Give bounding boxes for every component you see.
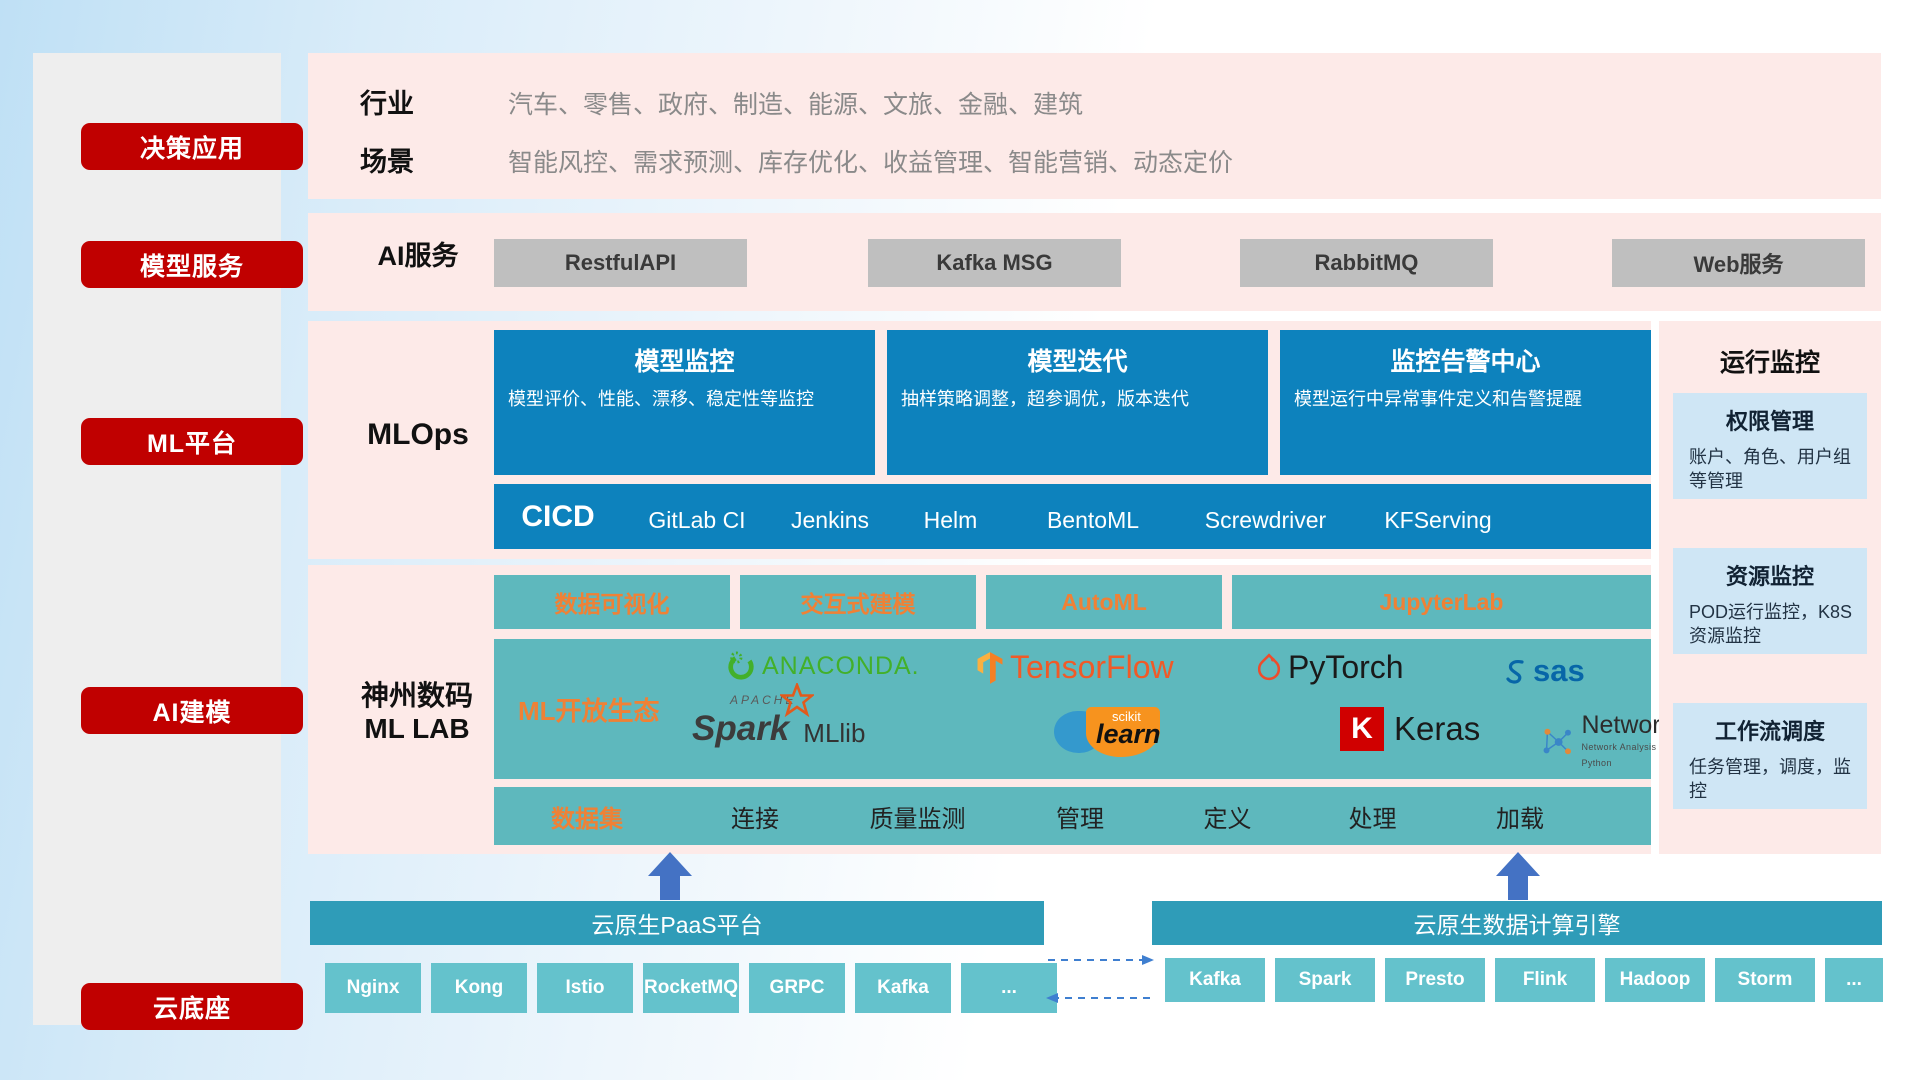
tab-data-visualization[interactable]: 数据可视化 [494, 575, 730, 629]
card-title: 权限管理 [1673, 404, 1867, 436]
pytorch-logo: PyTorch [1256, 649, 1404, 686]
spark-wordmark: Spark [692, 709, 789, 748]
pytorch-wordmark: PyTorch [1288, 649, 1404, 686]
chip-kafka-right[interactable]: Kafka [1165, 958, 1265, 1002]
sas-icon [1502, 657, 1530, 685]
cloud-link-connectors [1046, 946, 1156, 1016]
dataset-row: 数据集 连接 质量监测 管理 定义 处理 加载 [494, 787, 1651, 845]
tab-jupyterlab[interactable]: JupyterLab [1232, 575, 1651, 629]
keras-wordmark: Keras [1394, 710, 1480, 748]
rail-badge-ml-platform[interactable]: ML平台 [81, 418, 303, 465]
dataset-item-process[interactable]: 处理 [1300, 799, 1445, 834]
cicd-item-screwdriver[interactable]: Screwdriver [1173, 484, 1358, 537]
runtime-monitor-title: 运行监控 [1659, 343, 1881, 379]
networkx-tagline: Network Analysis in Python [1581, 742, 1667, 768]
chip-more-left[interactable]: ... [961, 963, 1057, 1013]
scenario-value: 智能风控、需求预测、库存优化、收益管理、智能营销、动态定价 [508, 143, 1233, 179]
service-chip-rabbitmq[interactable]: RabbitMQ [1240, 239, 1493, 287]
service-chip-restfulapi[interactable]: RestfulAPI [494, 239, 747, 287]
ml-lab-label-line1: 神州数码 [361, 680, 473, 711]
left-rail: 决策应用 模型服务 ML平台 AI建模 云底座 [33, 53, 281, 1025]
ai-modeling-panel: 神州数码 ML LAB 数据可视化 交互式建模 AutoML JupyterLa… [308, 565, 1651, 854]
cicd-item-jenkins[interactable]: Jenkins [772, 484, 888, 537]
mlops-panel: MLOps 模型监控 模型评价、性能、漂移、稳定性等监控 模型迭代 抽样策略调整… [308, 321, 1651, 559]
dataset-item-load[interactable]: 加载 [1445, 799, 1595, 834]
mllib-wordmark: MLlib [803, 718, 865, 749]
chip-istio[interactable]: Istio [537, 963, 633, 1013]
card-desc: 模型评价、性能、漂移、稳定性等监控 [508, 388, 863, 412]
service-chip-web-service[interactable]: Web服务 [1612, 239, 1865, 287]
card-desc: 模型运行中异常事件定义和告警提醒 [1294, 388, 1639, 412]
chip-kong[interactable]: Kong [431, 963, 527, 1013]
card-desc: 抽样策略调整，超参调优，版本迭代 [901, 388, 1256, 412]
paas-platform-bar: 云原生PaaS平台 [310, 901, 1044, 945]
anaconda-logo: ANACONDA. [726, 651, 920, 681]
decision-application-panel: 行业 汽车、零售、政府、制造、能源、文旅、金融、建筑 场景 智能风控、需求预测、… [308, 53, 1881, 199]
cicd-item-gitlab-ci[interactable]: GitLab CI [622, 484, 772, 537]
tensorflow-icon [976, 651, 1004, 685]
mlops-label: MLOps [328, 417, 508, 452]
dataset-label: 数据集 [494, 799, 680, 834]
arrow-left-icon [1046, 993, 1058, 1003]
ml-ecosystem-label: ML开放生态 [518, 691, 660, 728]
arrow-up-left-icon [640, 852, 700, 900]
card-desc: POD运行监控，K8S资源监控 [1689, 600, 1853, 649]
mlops-card-alert-center[interactable]: 监控告警中心 模型运行中异常事件定义和告警提醒 [1280, 330, 1651, 475]
chip-nginx[interactable]: Nginx [325, 963, 421, 1013]
ml-lab-label-line2: ML LAB [364, 713, 469, 744]
scenario-label: 场景 [360, 140, 414, 179]
card-title: 模型迭代 [887, 342, 1268, 378]
tab-automl[interactable]: AutoML [986, 575, 1222, 629]
spark-star-icon [780, 683, 814, 717]
ml-ecosystem-box: ML开放生态 ANACONDA. TensorFlow [494, 639, 1651, 779]
chip-more-right[interactable]: ... [1825, 958, 1883, 1002]
monitor-card-resource[interactable]: 资源监控 POD运行监控，K8S资源监控 [1673, 548, 1867, 654]
mlops-card-model-iteration[interactable]: 模型迭代 抽样策略调整，超参调优，版本迭代 [887, 330, 1268, 475]
cicd-item-bentoml[interactable]: BentoML [1013, 484, 1173, 537]
monitor-card-permission[interactable]: 权限管理 账户、角色、用户组等管理 [1673, 393, 1867, 499]
dataset-item-quality[interactable]: 质量监测 [830, 799, 1005, 834]
chip-spark[interactable]: Spark [1275, 958, 1375, 1002]
card-desc: 任务管理，调度，监控 [1689, 755, 1853, 804]
tensorflow-wordmark: TensorFlow [1010, 649, 1174, 686]
cicd-item-helm[interactable]: Helm [888, 484, 1013, 537]
monitor-card-workflow[interactable]: 工作流调度 任务管理，调度，监控 [1673, 703, 1867, 809]
arrow-right-icon [1142, 955, 1154, 965]
runtime-monitor-panel: 运行监控 权限管理 账户、角色、用户组等管理 资源监控 POD运行监控，K8S资… [1659, 321, 1881, 854]
chip-storm[interactable]: Storm [1715, 958, 1815, 1002]
tensorflow-logo: TensorFlow [976, 649, 1174, 686]
card-title: 工作流调度 [1673, 714, 1867, 746]
learn-wordmark: learn [1096, 719, 1161, 750]
industry-value: 汽车、零售、政府、制造、能源、文旅、金融、建筑 [508, 85, 1083, 121]
dataset-item-manage[interactable]: 管理 [1005, 799, 1155, 834]
cicd-label: CICD [494, 484, 622, 534]
service-chip-kafka-msg[interactable]: Kafka MSG [868, 239, 1121, 287]
cicd-item-kfserving[interactable]: KFServing [1358, 484, 1518, 537]
card-desc: 账户、角色、用户组等管理 [1689, 445, 1853, 494]
keras-logo: K Keras [1340, 707, 1480, 751]
ai-service-label: AI服务 [328, 241, 508, 273]
card-title: 资源监控 [1673, 559, 1867, 591]
keras-mark-icon: K [1340, 707, 1384, 751]
pytorch-icon [1256, 652, 1282, 684]
anaconda-icon [726, 651, 756, 681]
dataset-item-define[interactable]: 定义 [1155, 799, 1300, 834]
networkx-icon [1540, 723, 1575, 761]
chip-grpc[interactable]: GRPC [749, 963, 845, 1013]
chip-hadoop[interactable]: Hadoop [1605, 958, 1705, 1002]
rail-badge-model-service[interactable]: 模型服务 [81, 241, 303, 288]
sas-wordmark: sas [1533, 653, 1585, 689]
arrow-up-right-icon [1488, 852, 1548, 900]
rail-badge-ai-modeling[interactable]: AI建模 [81, 687, 303, 734]
anaconda-wordmark: ANACONDA. [762, 652, 920, 681]
chip-kafka-left[interactable]: Kafka [855, 963, 951, 1013]
chip-flink[interactable]: Flink [1495, 958, 1595, 1002]
sas-logo: sas [1502, 653, 1585, 689]
chip-presto[interactable]: Presto [1385, 958, 1485, 1002]
tab-interactive-modeling[interactable]: 交互式建模 [740, 575, 976, 629]
mlops-card-model-monitoring[interactable]: 模型监控 模型评价、性能、漂移、稳定性等监控 [494, 330, 875, 475]
spark-mllib-logo: APACHE Spark MLlib [692, 709, 865, 749]
rail-badge-cloud-base[interactable]: 云底座 [81, 983, 303, 1030]
card-title: 模型监控 [494, 342, 875, 378]
industry-label: 行业 [360, 82, 414, 121]
data-compute-engine-bar: 云原生数据计算引擎 [1152, 901, 1882, 945]
card-title: 监控告警中心 [1280, 342, 1651, 378]
cicd-bar: CICD GitLab CI Jenkins Helm BentoML Scre… [494, 484, 1651, 549]
rail-badge-decision[interactable]: 决策应用 [81, 123, 303, 170]
ml-lab-label: 神州数码 ML LAB [322, 679, 512, 745]
chip-rocketmq[interactable]: RocketMQ [643, 963, 739, 1013]
dataset-item-connect[interactable]: 连接 [680, 799, 830, 834]
ai-service-panel: AI服务 RestfulAPI Kafka MSG RabbitMQ Web服务 [308, 213, 1881, 311]
